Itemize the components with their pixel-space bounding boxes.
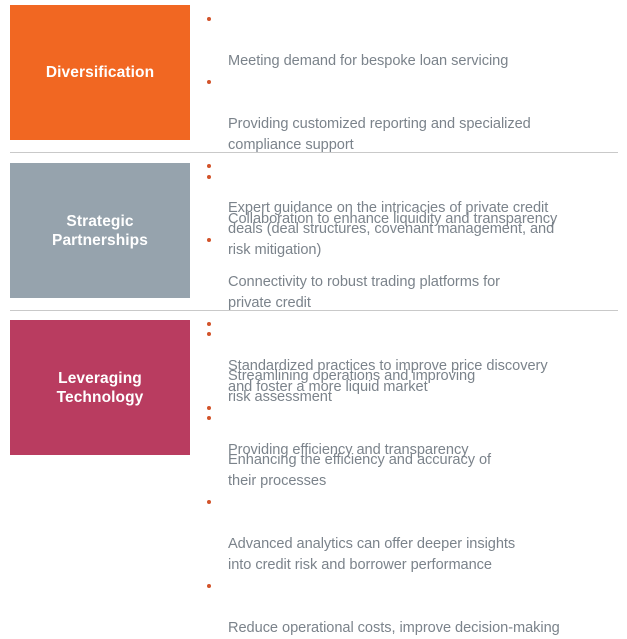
- bullet-dot-icon: [207, 332, 211, 336]
- bullet-text: Streamlining operations and improving ri…: [228, 368, 475, 405]
- category-block-strategic-partnerships: Strategic Partnerships: [10, 163, 190, 298]
- bullet-item: Providing customized reporting and speci…: [202, 72, 627, 156]
- bullet-item: Streamlining operations and improving ri…: [202, 324, 627, 408]
- category-label-leveraging-technology: Leveraging Technology: [57, 369, 144, 407]
- slide-canvas: Diversification Meeting demand for bespo…: [0, 0, 627, 467]
- bullet-text: Connectivity to robust trading platforms…: [228, 274, 500, 311]
- bullet-text: Collaboration to enhance liquidity and t…: [228, 211, 557, 227]
- bullet-dot-icon: [207, 80, 211, 84]
- bullet-dot-icon: [207, 584, 211, 588]
- section-divider: [10, 152, 618, 153]
- bullet-list-leveraging-technology: Streamlining operations and improving ri…: [202, 320, 627, 639]
- bullet-dot-icon: [207, 500, 211, 504]
- bullet-text: Enhancing the efficiency and accuracy of…: [228, 452, 491, 489]
- section-row-leveraging-technology: Leveraging Technology Streamlining opera…: [0, 320, 627, 467]
- category-label-diversification: Diversification: [46, 63, 154, 82]
- section-row-strategic-partnerships: Strategic Partnerships Collaboration to …: [0, 163, 627, 310]
- bullet-dot-icon: [207, 175, 211, 179]
- bullet-dot-icon: [207, 238, 211, 242]
- section-divider: [10, 310, 618, 311]
- bullet-dot-icon: [207, 17, 211, 21]
- section-row-diversification: Diversification Meeting demand for bespo…: [0, 5, 627, 152]
- bullet-dot-icon: [207, 416, 211, 420]
- bullet-item: Connectivity to robust trading platforms…: [202, 230, 627, 314]
- bullet-item: Collaboration to enhance liquidity and t…: [202, 167, 627, 230]
- bullet-text: Meeting demand for bespoke loan servicin…: [228, 53, 508, 69]
- bullet-item: Advanced analytics can offer deeper insi…: [202, 492, 627, 576]
- bullet-text: Advanced analytics can offer deeper insi…: [228, 536, 515, 573]
- category-block-leveraging-technology: Leveraging Technology: [10, 320, 190, 455]
- bullet-item: Enhancing the efficiency and accuracy of…: [202, 408, 627, 492]
- bullet-text: Reduce operational costs, improve decisi…: [228, 620, 560, 636]
- bullet-text: Providing customized reporting and speci…: [228, 116, 531, 153]
- category-block-diversification: Diversification: [10, 5, 190, 140]
- bullet-item: Reduce operational costs, improve decisi…: [202, 576, 627, 639]
- category-label-strategic-partnerships: Strategic Partnerships: [52, 212, 148, 250]
- bullet-item: Meeting demand for bespoke loan servicin…: [202, 9, 627, 72]
